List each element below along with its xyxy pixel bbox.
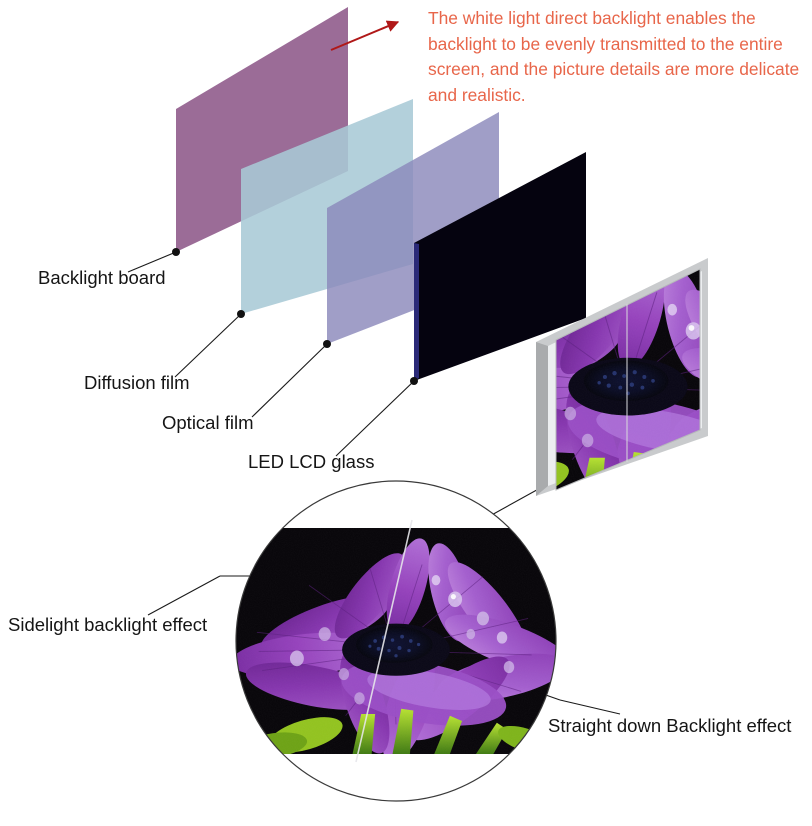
label-diffusion-film: Diffusion film	[84, 372, 190, 394]
scene-svg	[0, 0, 812, 826]
label-sidelight-effect: Sidelight backlight effect	[8, 614, 207, 636]
diagram-canvas: The white light direct backlight enables…	[0, 0, 812, 826]
label-led-lcd-glass: LED LCD glass	[248, 451, 374, 473]
monitor-side-edge	[536, 342, 548, 496]
label-backlight-board: Backlight board	[38, 267, 166, 289]
magnifier-image	[222, 528, 579, 768]
magnifier-circle[interactable]	[222, 481, 579, 801]
layer-led-lcd-glass-edge	[414, 243, 419, 381]
label-straight-down-effect: Straight down Backlight effect	[548, 715, 791, 737]
label-optical-film: Optical film	[162, 412, 254, 434]
callout-note: The white light direct backlight enables…	[428, 6, 800, 108]
